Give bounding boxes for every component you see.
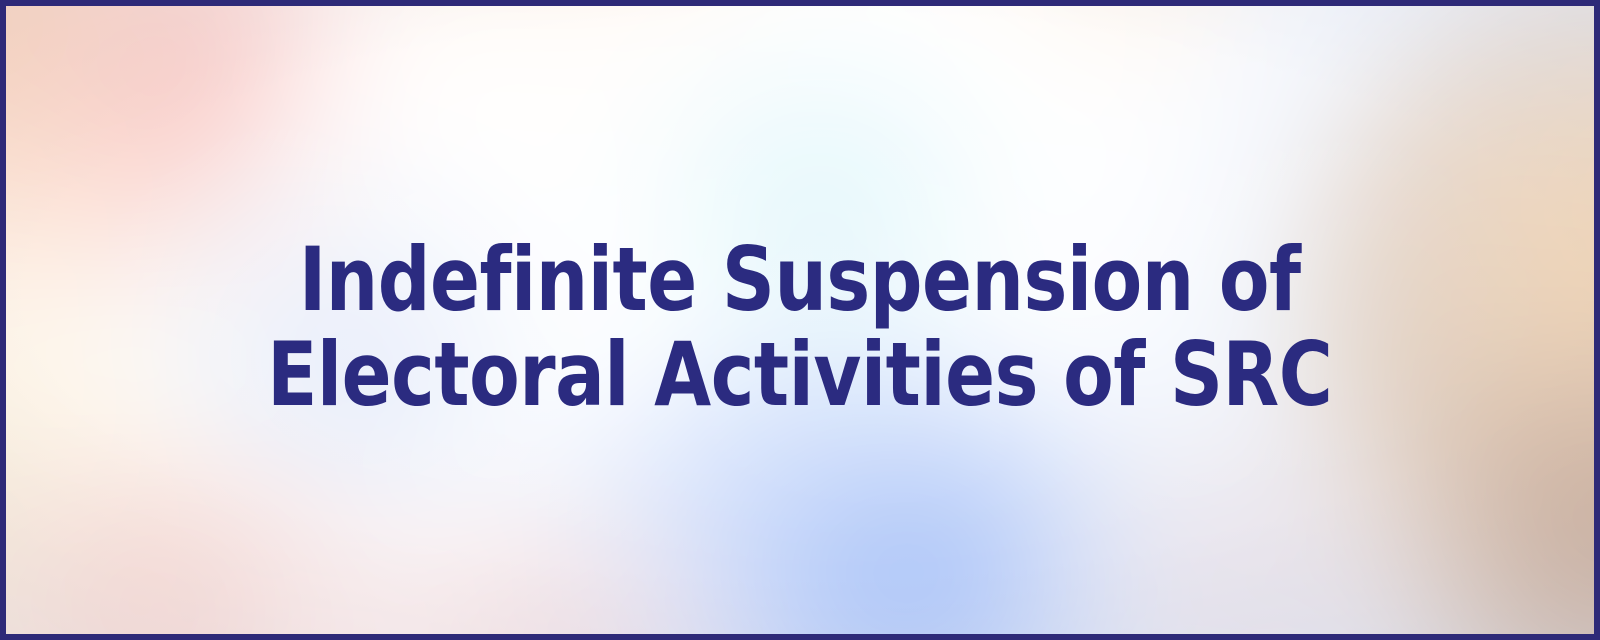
background-blur-layer [6, 6, 1594, 634]
blurred-photo-background [6, 6, 1594, 634]
article-hero-banner: Indefinite Suspension of Electoral Activ… [0, 0, 1600, 640]
